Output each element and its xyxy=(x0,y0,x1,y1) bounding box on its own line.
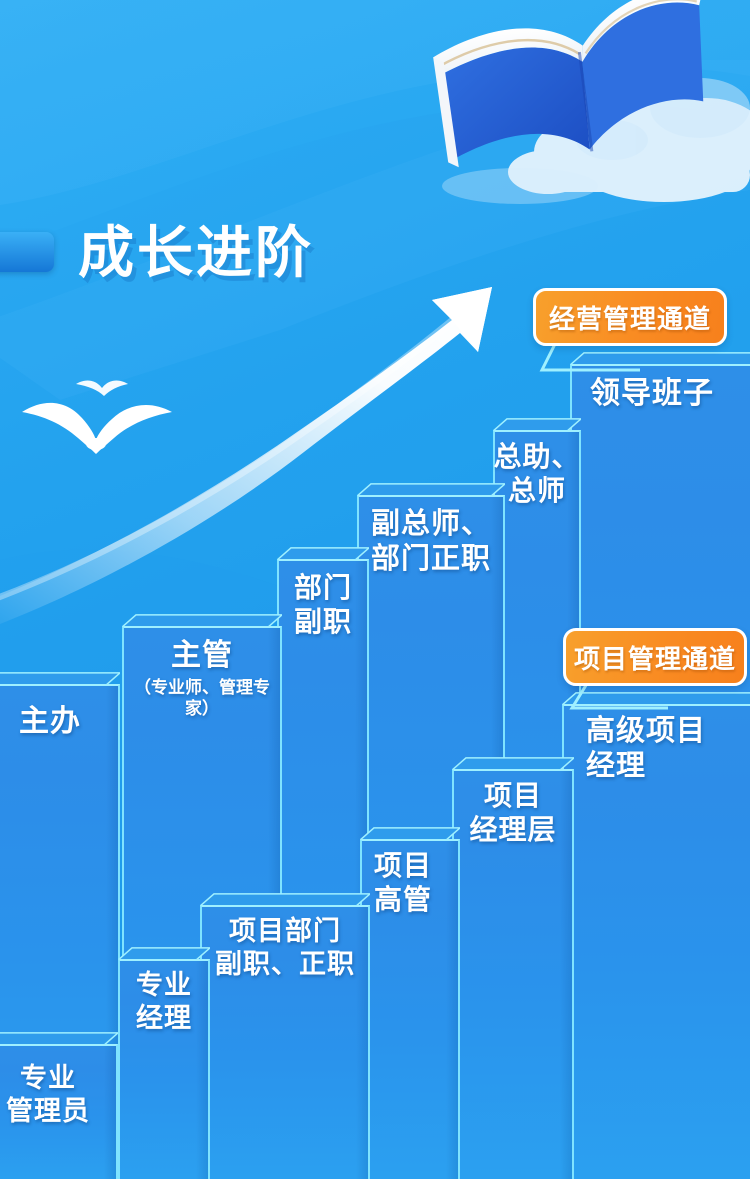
step-project-2[interactable]: 专业 经理 xyxy=(118,947,210,1179)
step-shade xyxy=(196,961,208,1179)
page-title: 成长进阶 xyxy=(78,222,314,284)
step-shade xyxy=(560,771,572,1179)
step-project-4[interactable]: 项目 高管 xyxy=(360,827,460,1179)
step-project-5[interactable]: 项目 经理层 xyxy=(452,757,574,1179)
step-project-1[interactable]: 专业 管理员 xyxy=(0,1032,118,1179)
step-shade xyxy=(104,1046,116,1179)
badge-project-channel[interactable]: 项目管理通道 xyxy=(563,628,747,686)
poster-canvas: 成长进阶 主办 主管 （专业师、管理专家） 部门 副职 xyxy=(0,0,750,1179)
step-shade xyxy=(356,907,368,1179)
badge-management-channel[interactable]: 经营管理通道 xyxy=(533,288,727,346)
step-front-face xyxy=(562,704,750,1179)
step-front-face xyxy=(200,905,370,1179)
step-front-face xyxy=(360,839,460,1179)
step-front-face xyxy=(452,769,574,1179)
step-project-3[interactable]: 项目部门 副职、正职 xyxy=(200,893,370,1179)
step-project-6[interactable]: 高级项目 经理 xyxy=(562,692,750,1179)
seagull-icon-left-small xyxy=(76,381,128,396)
step-front-face xyxy=(0,1044,118,1179)
step-shade xyxy=(446,841,458,1179)
step-front-face xyxy=(118,959,210,1179)
title-tab-marker xyxy=(0,232,54,272)
seagull-icon-left xyxy=(22,403,172,454)
